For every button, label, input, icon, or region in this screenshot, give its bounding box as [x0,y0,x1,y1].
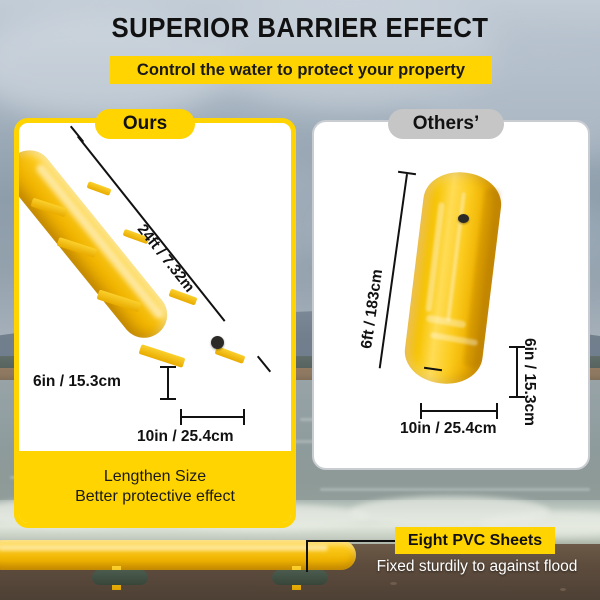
valve-icon [211,336,224,349]
callout-subtitle: Fixed sturdily to against flood [357,558,597,576]
badge-ours: Ours [95,109,195,139]
height-dimension-line [167,366,169,400]
dimension-tick [420,403,422,419]
anchor-flap [139,344,186,368]
wave [320,488,590,491]
benefit-line-2: Better protective effect [75,488,235,506]
height-dimension-line [516,346,518,398]
valve-icon [458,214,469,223]
width-dimension-label: 10in / 25.4cm [400,420,497,438]
callout-leader-vertical [306,542,308,572]
dimension-tick [257,356,271,373]
dimension-tick [70,126,84,143]
callout-leader-horizontal [306,540,398,542]
dimension-tick [180,409,182,425]
product-photo-others: 6ft / 183cm 6in / 15.3cm 10in / 25.4cm [314,122,584,464]
sand-speck [560,588,566,591]
width-dimension-label: 10in / 25.4cm [137,428,234,446]
sand-speck [390,582,397,585]
dimension-tick [160,398,176,400]
ours-benefit-footer: Lengthen Size Better protective effect [19,451,291,523]
barrier-highlight [0,545,328,551]
callout-title: Eight PVC Sheets [395,527,555,554]
dimension-tick [496,403,498,419]
promo-image: SUPERIOR BARRIER EFFECT Control the wate… [0,0,600,600]
sandbag-weight [92,570,148,585]
height-dimension-label: 6in / 15.3cm [520,338,538,426]
dimension-tick [243,409,245,425]
dimension-tick [160,366,176,368]
sandbag-weight [272,570,328,585]
height-dimension-label: 6in / 15.3cm [33,373,121,391]
page-title: SUPERIOR BARRIER EFFECT [24,12,576,44]
benefit-line-1: Lengthen Size [104,468,206,486]
width-dimension-line [420,410,498,412]
comparison-panel-ours: 24ft / 7.32m 6in / 15.3cm 10in / 25.4cm … [14,118,296,528]
width-dimension-line [180,416,245,418]
deployed-flood-barrier [0,540,356,570]
badge-others: Others’ [388,109,504,139]
page-subtitle: Control the water to protect your proper… [110,56,492,84]
anchor-flap [87,181,112,196]
comparison-panel-others: 6ft / 183cm 6in / 15.3cm 10in / 25.4cm [312,120,590,470]
